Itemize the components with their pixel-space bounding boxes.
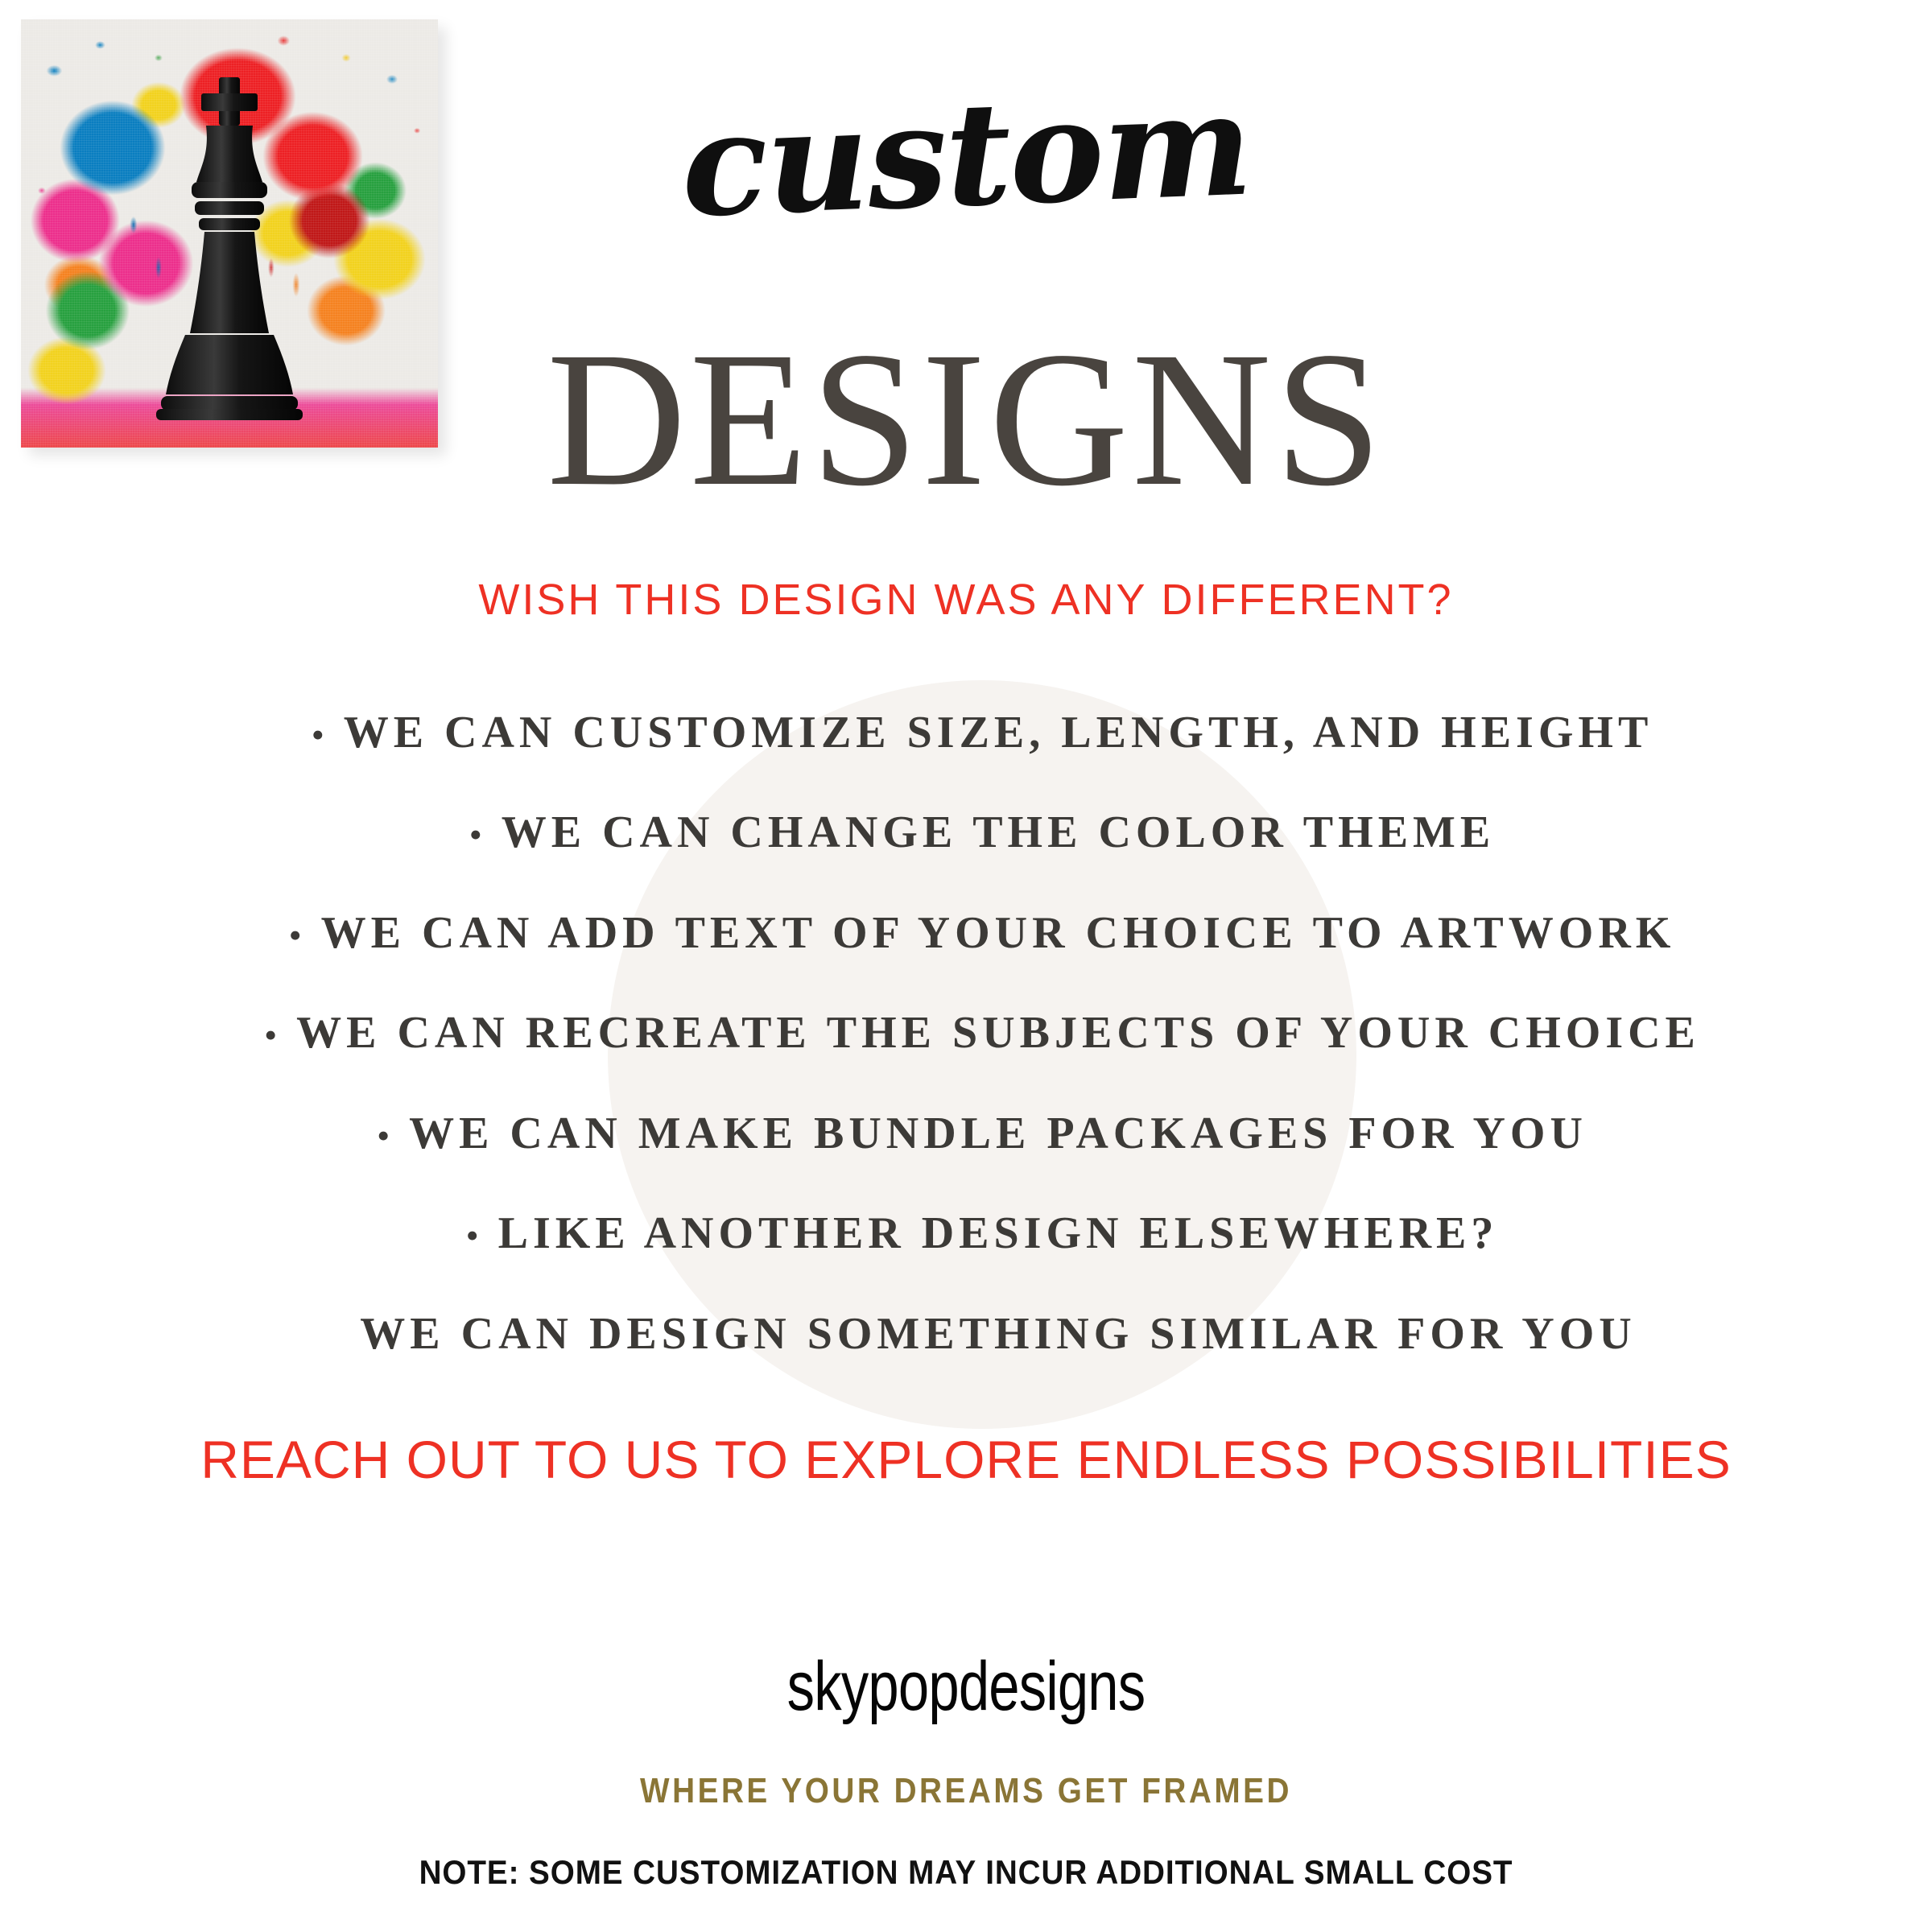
- brand-tagline: WHERE YOUR DREAMS GET FRAMED: [116, 1773, 1816, 1809]
- bullet-icon: •: [466, 1217, 498, 1254]
- page-title-designs: DESIGNS: [0, 322, 1932, 515]
- feature-text: WE CAN CHANGE THE COLOR THEME: [502, 808, 1496, 857]
- feature-text: WE CAN CUSTOMIZE SIZE, LENGTH, AND HEIGH…: [344, 708, 1653, 757]
- bullet-icon: •: [264, 1017, 296, 1054]
- list-item: • WE CAN MAKE BUNDLE PACKAGES FOR YOU: [0, 1109, 1932, 1158]
- feature-list: • WE CAN CUSTOMIZE SIZE, LENGTH, AND HEI…: [0, 708, 1932, 1410]
- feature-text: WE CAN ADD TEXT OF YOUR CHOICE TO ARTWOR…: [321, 909, 1676, 957]
- bullet-icon: •: [469, 816, 502, 853]
- list-item-continuation: • WE CAN DESIGN SOMETHING SIMILAR FOR YO…: [0, 1310, 1932, 1358]
- list-item: • WE CAN RECREATE THE SUBJECTS OF YOUR C…: [0, 1009, 1932, 1057]
- bullet-icon: •: [312, 716, 344, 753]
- list-item: • LIKE ANOTHER DESIGN ELSEWHERE?: [0, 1209, 1932, 1257]
- feature-text: WE CAN DESIGN SOMETHING SIMILAR FOR YOU: [360, 1310, 1636, 1358]
- subheadline-question: WISH THIS DESIGN WAS ANY DIFFERENT?: [0, 578, 1932, 621]
- feature-text: WE CAN RECREATE THE SUBJECTS OF YOUR CHO…: [296, 1009, 1700, 1057]
- bullet-icon: •: [289, 917, 321, 954]
- list-item: • WE CAN CHANGE THE COLOR THEME: [0, 808, 1932, 857]
- brand-logo-text: skypopdesigns: [193, 1652, 1739, 1721]
- footnote-text: NOTE: SOME CUSTOMIZATION MAY INCUR ADDIT…: [77, 1856, 1855, 1889]
- feature-text: WE CAN MAKE BUNDLE PACKAGES FOR YOU: [409, 1109, 1587, 1158]
- bullet-icon: •: [377, 1117, 409, 1154]
- promo-poster: custom DESIGNS WISH THIS DESIGN WAS ANY …: [0, 0, 1932, 1932]
- feature-text: LIKE ANOTHER DESIGN ELSEWHERE?: [498, 1209, 1499, 1257]
- call-to-action-text: REACH OUT TO US TO EXPLORE ENDLESS POSSI…: [0, 1433, 1932, 1486]
- list-item: • WE CAN CUSTOMIZE SIZE, LENGTH, AND HEI…: [0, 708, 1932, 757]
- list-item: • WE CAN ADD TEXT OF YOUR CHOICE TO ARTW…: [0, 909, 1932, 957]
